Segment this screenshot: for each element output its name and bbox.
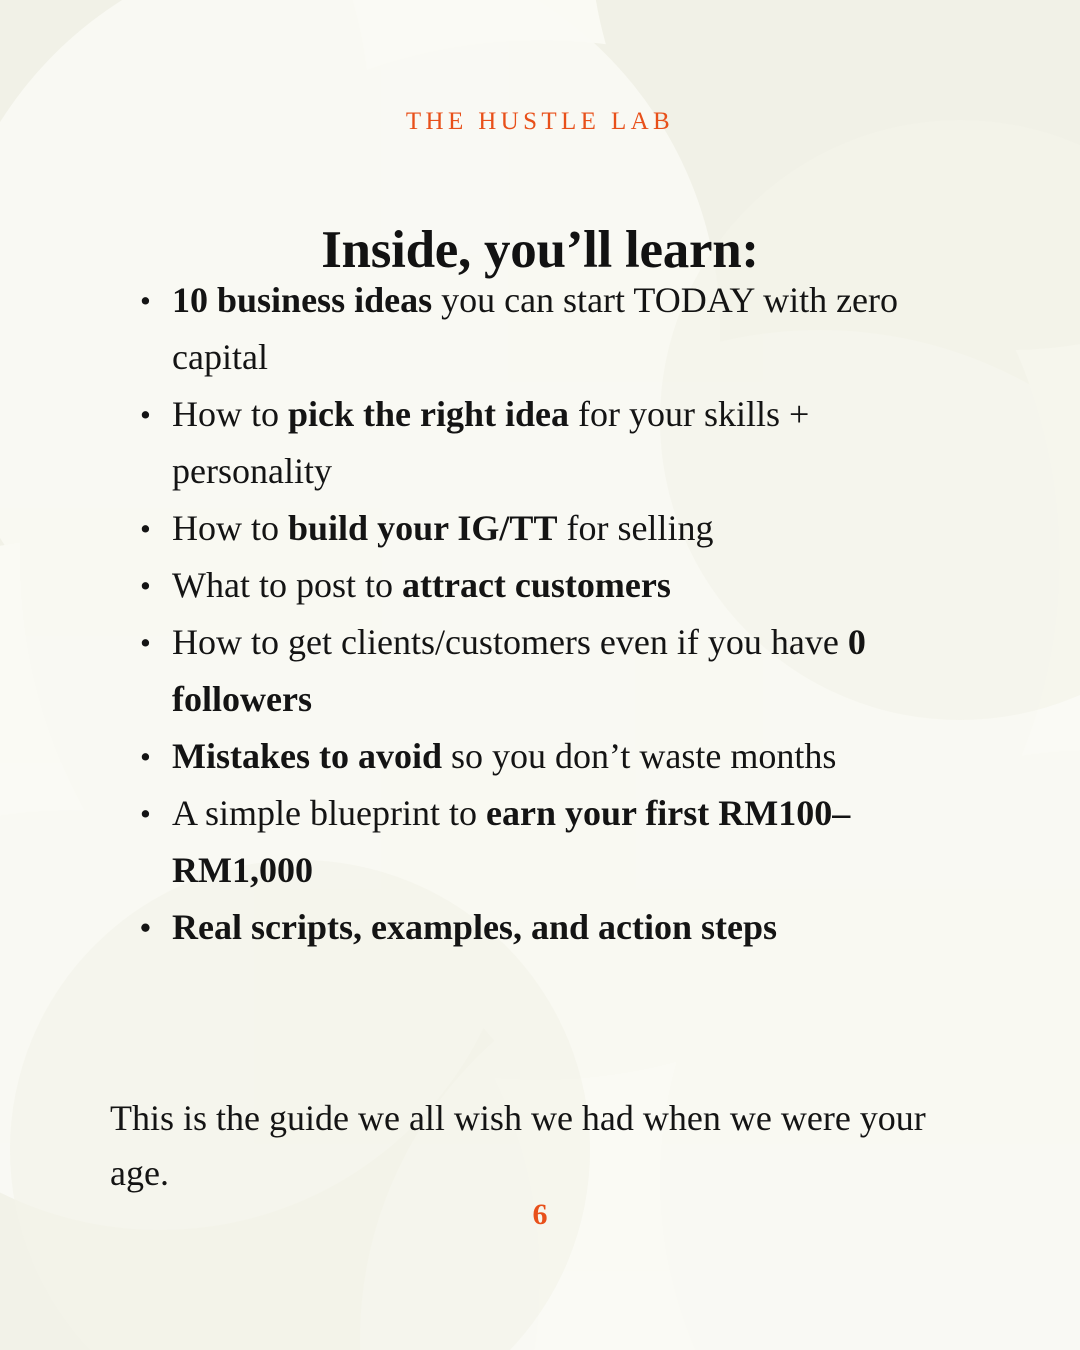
list-item-lead: How to: [172, 394, 288, 434]
list-item: How to get clients/customers even if you…: [140, 614, 952, 728]
list-item: Real scripts, examples, and action steps: [140, 899, 952, 956]
list-item: A simple blueprint to earn your first RM…: [140, 785, 952, 899]
benefits-list: 10 business ideas you can start TODAY wi…: [140, 272, 952, 956]
list-item-lead: How to get clients/customers even if you…: [172, 622, 848, 662]
page-number: 6: [0, 1198, 1080, 1232]
list-item-bold-lead: 10 business ideas: [172, 280, 432, 320]
list-item: What to post to attract customers: [140, 557, 952, 614]
list-item: 10 business ideas you can start TODAY wi…: [140, 272, 952, 386]
list-item-bold-lead: Real scripts, examples, and action steps: [172, 907, 777, 947]
list-item: How to build your IG/TT for selling: [140, 500, 952, 557]
brand-eyebrow: THE HUSTLE LAB: [0, 108, 1080, 136]
list-item-lead: What to post to: [172, 565, 402, 605]
list-item-bold: attract customers: [402, 565, 671, 605]
list-item-rest: so you don’t waste months: [442, 736, 836, 776]
list-item-rest: for selling: [557, 508, 713, 548]
list-item-bold: pick the right idea: [288, 394, 569, 434]
closing-paragraph: This is the guide we all wish we had whe…: [110, 1091, 940, 1201]
list-item-lead: A simple blueprint to: [172, 793, 486, 833]
page-title: Inside, you’ll learn:: [0, 220, 1080, 280]
slide-page: THE HUSTLE LAB Inside, you’ll learn: 10 …: [0, 0, 1080, 1350]
list-item: How to pick the right idea for your skil…: [140, 386, 952, 500]
list-item-lead: How to: [172, 508, 288, 548]
list-item-bold-lead: Mistakes to avoid: [172, 736, 442, 776]
list-item: Mistakes to avoid so you don’t waste mon…: [140, 728, 952, 785]
list-item-bold: build your IG/TT: [288, 508, 557, 548]
